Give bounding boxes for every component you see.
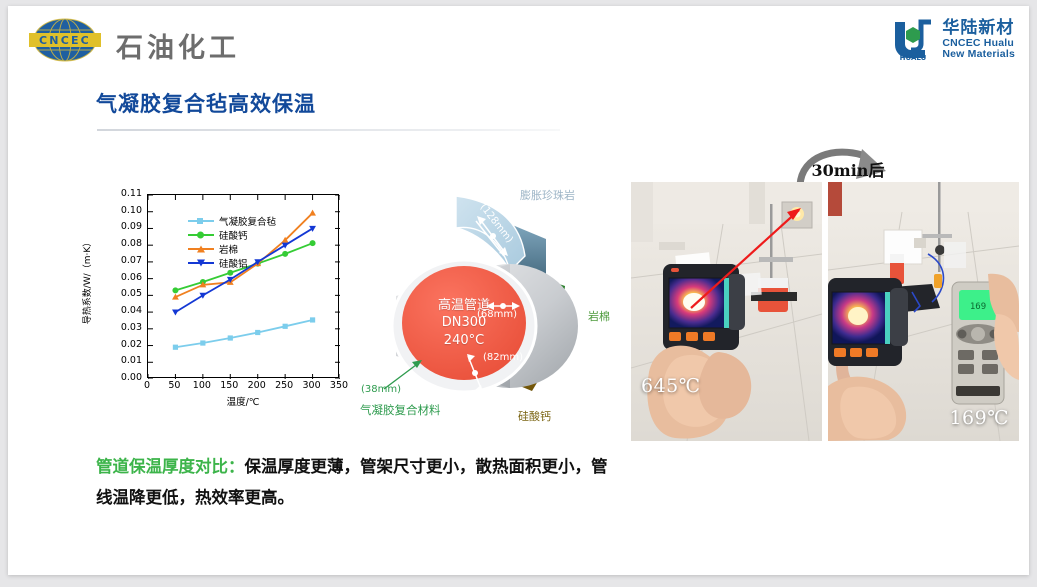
chart-legend-marker — [197, 260, 205, 267]
chart-y-ticks: 0.000.010.020.030.040.050.060.070.080.09… — [96, 188, 142, 384]
chart-x-axis-label: 温度/℃ — [147, 394, 339, 408]
chart-x-tick: 300 — [302, 380, 320, 391]
aerogel-thickness: (38mm) — [361, 384, 401, 395]
cncec-logo: CNCEC — [25, 17, 105, 63]
chart-legend-marker — [197, 246, 205, 253]
pipe-insulation-diagram: 高温管道 DN300 240°C (128mm) (68mm) (82mm) (… — [360, 176, 628, 426]
chart-legend-item: 硅酸钙 — [188, 228, 308, 242]
chart-y-tick: 0.02 — [102, 339, 142, 350]
chart-legend-label: 硅酸钙 — [219, 228, 248, 242]
svg-text:HUALU: HUALU — [900, 54, 927, 61]
brand-title-cn: 石油化工 — [116, 26, 240, 65]
calcium-silicate-thickness: (82mm) — [483, 352, 523, 363]
chart-y-tick: 0.04 — [102, 305, 142, 316]
summary-note: 管道保温厚度对比：保温厚度更薄，管架尺寸更小，散热面积更小，管线温降更低，热效率… — [96, 452, 616, 513]
chart-y-tick: 0.11 — [102, 188, 142, 199]
hualu-mark-icon: HUALU — [891, 19, 935, 61]
chart-x-tick: 350 — [330, 380, 348, 391]
chart-legend-swatch — [188, 262, 214, 264]
page-title: 气凝胶复合毡高效保温 — [96, 88, 316, 118]
chart-legend-item: 硅酸铝 — [188, 256, 308, 270]
chart-y-tick: 0.06 — [102, 272, 142, 283]
chart-legend-marker — [197, 218, 203, 224]
layer-label-aerogel: 气凝胶复合材料 — [360, 402, 441, 418]
photo-before-image — [631, 182, 822, 441]
chart-x-tick: 200 — [248, 380, 266, 391]
temperature-after: 169℃ — [949, 407, 1009, 429]
layer-label-calcium-silicate: 硅酸钙 — [518, 408, 551, 424]
chart-y-tick: 0.09 — [102, 221, 142, 232]
chart-legend-label: 岩棉 — [219, 242, 238, 256]
chart-legend-swatch — [188, 220, 214, 222]
chart-legend-swatch — [188, 234, 214, 236]
experiment-photos: 30min后 — [631, 182, 1019, 441]
chart-legend: 气凝胶复合毡硅酸钙岩棉硅酸铝 — [188, 214, 308, 270]
chart-legend-label: 气凝胶复合毡 — [219, 214, 276, 228]
chart-x-tick: 100 — [193, 380, 211, 391]
title-divider — [97, 129, 560, 131]
hualu-logo: HUALU 华陆新材 CNCEC Hualu New Materials — [891, 18, 1015, 62]
chart-y-tick: 0.07 — [102, 255, 142, 266]
chart-x-tick: 250 — [275, 380, 293, 391]
chart-y-tick: 0.05 — [102, 288, 142, 299]
photo-after-image: 169 — [828, 182, 1019, 441]
hualu-name-en-2: New Materials — [942, 49, 1015, 60]
layer-label-perlite: 膨胀珍珠岩 — [520, 187, 575, 203]
chart-y-tick: 0.01 — [102, 355, 142, 366]
chart-y-tick: 0.03 — [102, 322, 142, 333]
svg-text:169: 169 — [970, 302, 986, 312]
photo-after: 169 169℃ — [828, 182, 1019, 441]
chart-y-tick: 0.08 — [102, 238, 142, 249]
slide: CNCEC 石油化工 HUALU 华陆新材 CNCEC Hualu New Ma… — [8, 6, 1029, 575]
chart-legend-label: 硅酸铝 — [219, 256, 248, 270]
thermal-conductivity-chart: 导热系数/W/（m·K） 0.000.010.020.030.040.050.0… — [70, 188, 355, 420]
photo-before: 645℃ — [631, 182, 822, 441]
layer-label-rockwool: 岩棉 — [588, 308, 610, 324]
chart-x-tick: 150 — [220, 380, 238, 391]
hualu-name-cn: 华陆新材 — [942, 20, 1015, 38]
chart-x-tick: 50 — [168, 380, 180, 391]
cncec-logo-text: CNCEC — [39, 34, 91, 47]
slide-header: CNCEC 石油化工 HUALU 华陆新材 CNCEC Hualu New Ma… — [8, 6, 1029, 72]
temperature-before: 645℃ — [641, 375, 701, 397]
chart-y-tick: 0.10 — [102, 205, 142, 216]
chart-x-tick: 0 — [144, 380, 150, 391]
chart-legend-item: 岩棉 — [188, 242, 308, 256]
chart-y-axis-label: 导热系数/W/（m·K） — [80, 196, 93, 366]
chart-legend-swatch — [188, 248, 214, 250]
pipe-core-line3: 240°C — [444, 332, 484, 350]
transition-arrow-label: 30min后 — [788, 157, 908, 181]
chart-legend-item: 气凝胶复合毡 — [188, 214, 308, 228]
rockwool-thickness: (68mm) — [477, 309, 517, 320]
chart-legend-marker — [197, 232, 204, 239]
summary-note-highlight: 管道保温厚度对比： — [96, 457, 245, 476]
